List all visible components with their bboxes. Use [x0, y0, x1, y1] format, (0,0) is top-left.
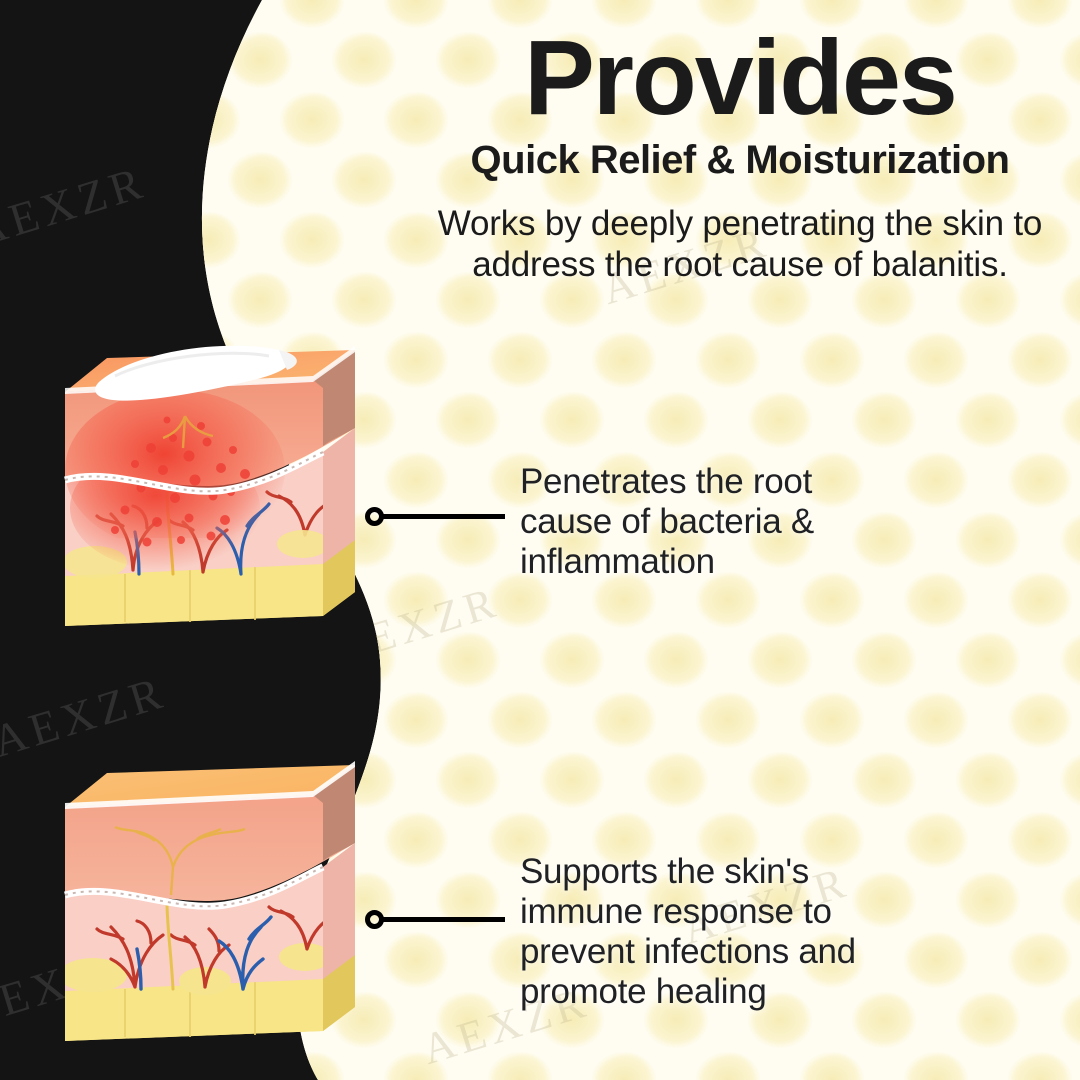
- infographic-canvas: AEXZR AEXZR AEXZR AEXZR AEXZR AEXZR AEXZ…: [0, 0, 1080, 1080]
- page-description: Works by deeply penetrating the skin to …: [420, 203, 1060, 286]
- callout-2-leader: [365, 908, 505, 930]
- callout-1-leader-line: [383, 514, 505, 519]
- page-subtitle: Quick Relief & Moisturization: [420, 139, 1060, 181]
- callout-1-leader: [365, 505, 505, 527]
- callout-2: Supports the skin's immune response to p…: [520, 852, 1010, 1012]
- headline-block: Provides Quick Relief & Moisturization W…: [420, 28, 1060, 285]
- callout-1-marker-dot: [365, 507, 384, 526]
- callout-1-text: Penetrates the root cause of bacteria & …: [520, 462, 990, 582]
- callout-2-leader-line: [383, 917, 505, 922]
- healthy-skin-illustration: [55, 745, 385, 1065]
- inflamed-skin-illustration: [55, 330, 385, 650]
- page-title: Provides: [420, 28, 1060, 129]
- callout-1: Penetrates the root cause of bacteria & …: [520, 462, 990, 582]
- callout-2-text: Supports the skin's immune response to p…: [520, 852, 1010, 1012]
- callout-2-marker-dot: [365, 910, 384, 929]
